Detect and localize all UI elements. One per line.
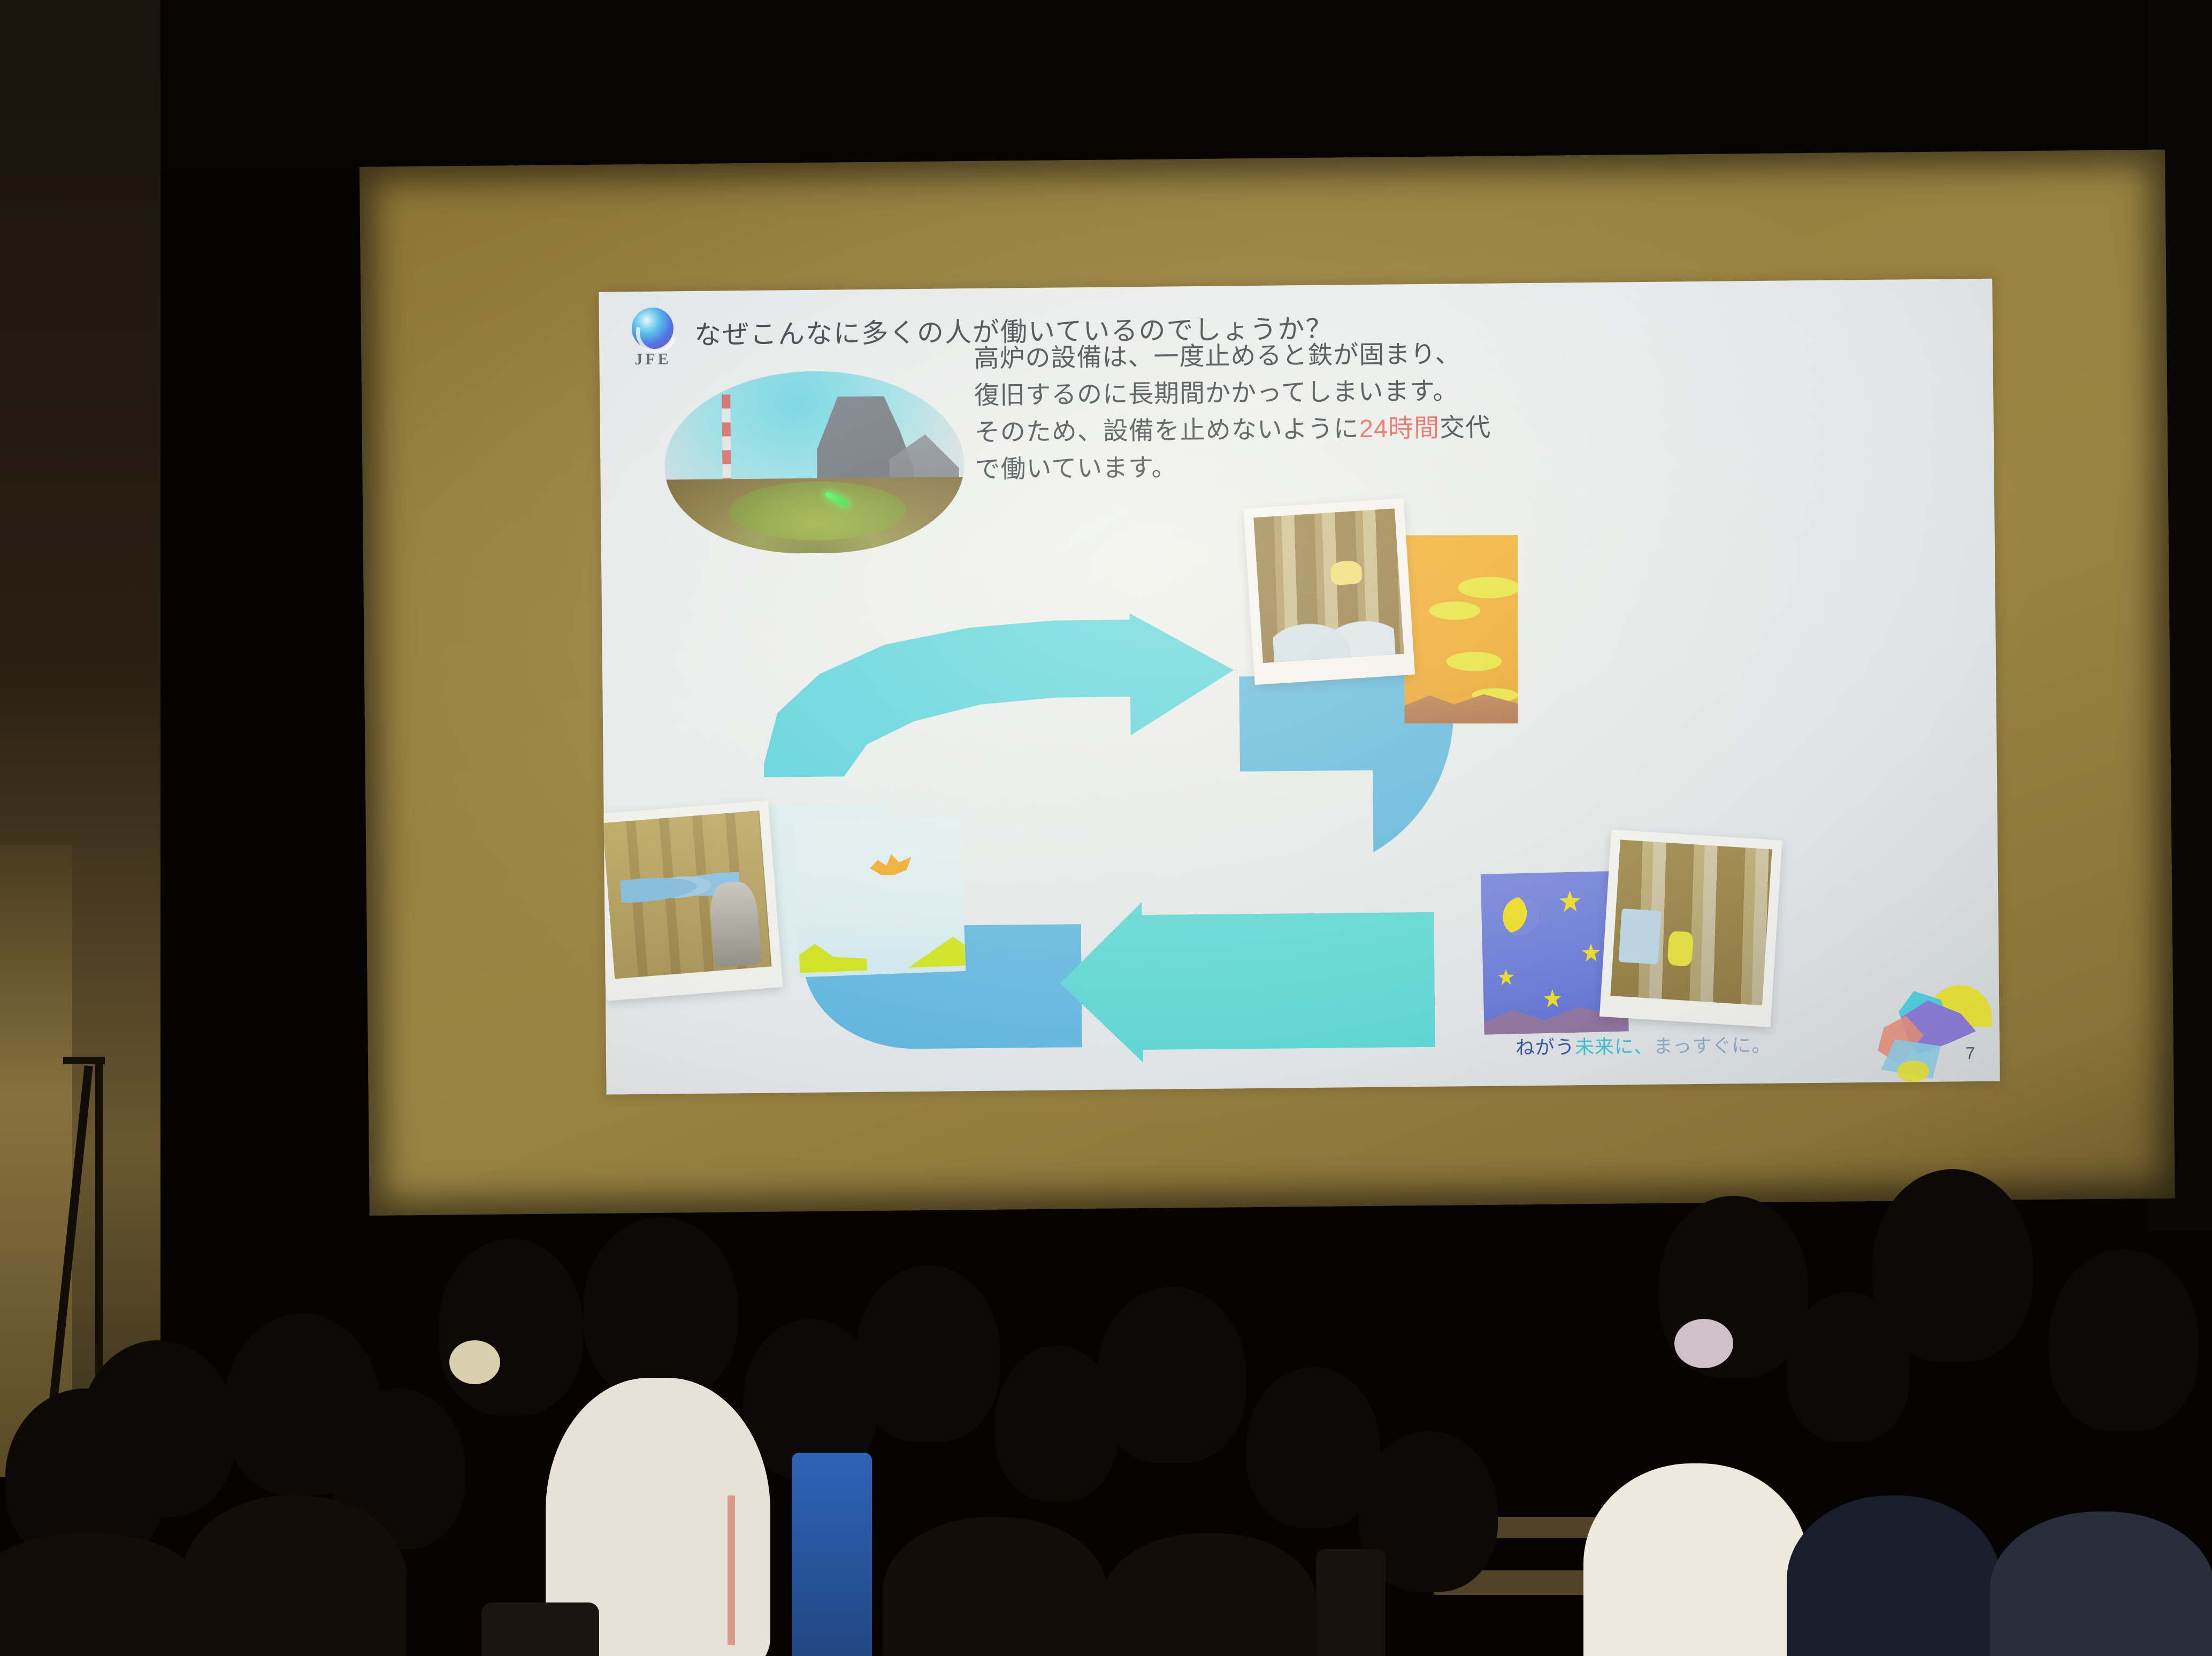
photo-day-shift-meeting bbox=[1243, 498, 1415, 685]
ribbon-yellow-dot bbox=[1897, 1060, 1929, 1082]
tagline-part-1: ねがう bbox=[1516, 1036, 1575, 1058]
hall-wall-left-lit bbox=[0, 845, 72, 1477]
body-line-3-pre: そのため、設備を止めないように bbox=[975, 414, 1360, 446]
white-hoodie bbox=[546, 1378, 770, 1656]
hoodie-stripe bbox=[728, 1495, 735, 1645]
audience-head bbox=[1359, 1431, 1498, 1592]
presentation-slide: JFE なぜこんなに多くの人が働いているのでしょうか？ 高炉の設備は、一度止める… bbox=[599, 279, 2000, 1095]
audience-head bbox=[2049, 1249, 2199, 1431]
jfe-orb-icon bbox=[632, 307, 674, 349]
audience-body bbox=[1787, 1495, 2001, 1656]
audience-body bbox=[883, 1517, 1107, 1656]
photo-night-shift-office bbox=[1599, 829, 1782, 1027]
desk bbox=[1434, 1570, 1808, 1595]
audience-head bbox=[856, 1265, 1000, 1442]
audience-head bbox=[1246, 1367, 1380, 1528]
jfe-logo: JFE bbox=[626, 307, 680, 369]
tagline-part-2: 未来に、 bbox=[1575, 1035, 1654, 1058]
audience-body bbox=[0, 1533, 209, 1656]
projection-screen: JFE なぜこんなに多くの人が働いているのでしょうか？ 高炉の設備は、一度止める… bbox=[359, 150, 2175, 1216]
dawn-grass-right bbox=[907, 933, 966, 967]
audience-body bbox=[182, 1495, 407, 1656]
cloud-icon bbox=[1446, 652, 1502, 671]
tagline-part-3: まっすぐに。 bbox=[1654, 1034, 1772, 1057]
audience-head bbox=[583, 1217, 738, 1399]
photo-image bbox=[1610, 840, 1772, 1005]
hair-scrunchie bbox=[449, 1340, 500, 1384]
star-icon bbox=[1582, 943, 1601, 962]
audience-body bbox=[1990, 1512, 2212, 1656]
moon-icon bbox=[1498, 892, 1543, 940]
audience-head bbox=[744, 1319, 877, 1479]
star-icon bbox=[1498, 968, 1514, 985]
dawn-grass-left bbox=[797, 940, 867, 973]
shift-cycle-diagram bbox=[601, 509, 2000, 1089]
cycle-arrow-top-right bbox=[762, 612, 1235, 777]
desk bbox=[1444, 1517, 1776, 1538]
audience-head bbox=[225, 1314, 380, 1495]
star-icon bbox=[1559, 890, 1581, 912]
photo-control-room bbox=[599, 800, 783, 1001]
audience-head bbox=[1658, 1196, 1808, 1378]
bag bbox=[481, 1602, 599, 1656]
audience-head bbox=[1787, 1292, 1910, 1442]
white-shirt bbox=[1583, 1463, 1808, 1656]
jfe-tagline: ねがう未来に、まっすぐに。 bbox=[1516, 1030, 1772, 1060]
audience-head bbox=[1097, 1287, 1246, 1463]
bag bbox=[1316, 1549, 1386, 1656]
audience-head bbox=[439, 1239, 583, 1415]
easel-crossbar bbox=[63, 1057, 105, 1064]
sky-card-dawn bbox=[794, 816, 966, 977]
highlight-24h: 24時間 bbox=[1359, 414, 1440, 442]
cloud-icon bbox=[1429, 601, 1480, 620]
audience-body bbox=[1102, 1533, 1316, 1656]
cloud-icon bbox=[1458, 577, 1518, 598]
photo-image bbox=[1253, 508, 1404, 663]
audience-head bbox=[995, 1346, 1118, 1501]
water-bottle bbox=[792, 1453, 872, 1656]
sky-card-day bbox=[1404, 535, 1518, 723]
easel-leg-right bbox=[95, 1057, 103, 1474]
star-icon bbox=[1543, 989, 1562, 1008]
screenshot-stage: JFE なぜこんなに多くの人が働いているのでしょうか？ 高炉の設備は、一度止める… bbox=[0, 0, 2212, 1656]
bird-icon bbox=[869, 851, 912, 882]
slide-page-number: 7 bbox=[1965, 1043, 1975, 1063]
jfe-ribbon-graphic bbox=[1890, 982, 1993, 1079]
hair-scrunchie bbox=[1674, 1319, 1733, 1368]
audience-head bbox=[332, 1388, 465, 1549]
hall-ceiling bbox=[0, 0, 2212, 171]
cycle-arrow-bottom-left bbox=[1059, 899, 1435, 1064]
slide-body-text: 高炉の設備は、一度止めると鉄が固まり、 復旧するのに長期間かかってしまいます。 … bbox=[974, 330, 1954, 487]
body-line-3-post: 交代 bbox=[1440, 413, 1491, 442]
photo-image bbox=[602, 811, 771, 979]
